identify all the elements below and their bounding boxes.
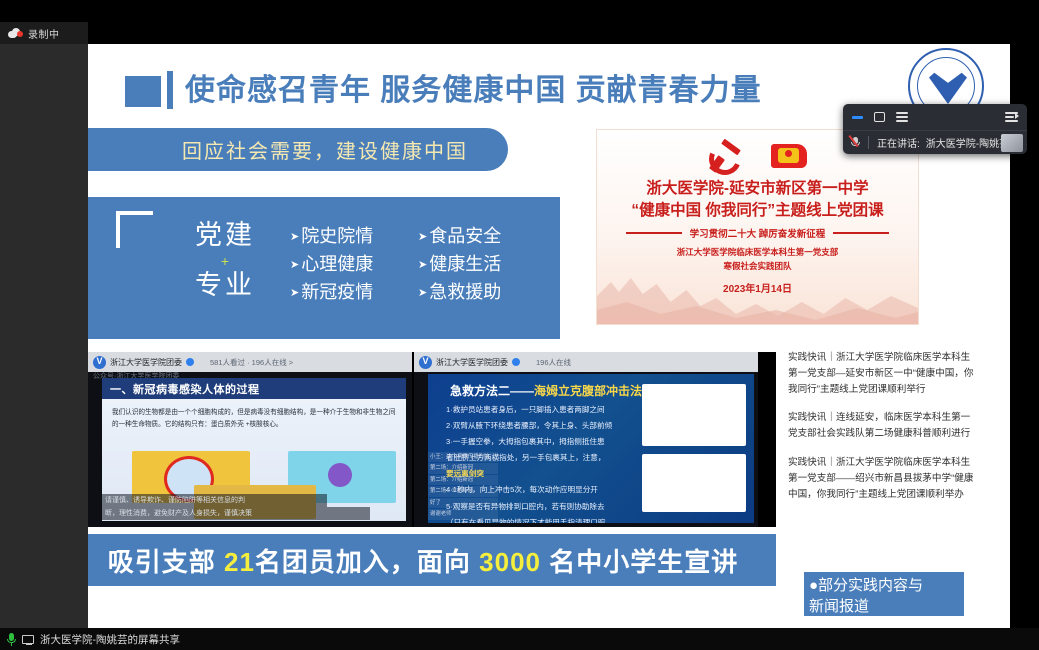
summary-banner-text: 吸引支部 21名团员加入，面向 3000 名中小学生宣讲 xyxy=(108,542,738,579)
chat-messages: 小王：这个病毒传播的快 第二场：介绍新冠 第二场：介绍新冠 第二场：介绍新冠 好… xyxy=(428,452,498,521)
list-item: 小王：这个病毒传播的快 xyxy=(428,452,498,463)
banner-segment-2: 名团员加入，面向 xyxy=(255,547,479,577)
poster-title: 浙大医学院-延安市新区第一中学 “健康中国 你我同行”主题线上党团课 xyxy=(597,178,918,222)
left-overlay-band-1: 请谨慎、诱导欺诈、谨防陷阱等相关信息的判 xyxy=(102,494,327,507)
screenshots-strip: 浙江大学医学院团委 581人看过 · 196人在线 > 公众号·浙江大学医学院团… xyxy=(88,352,776,527)
active-speaker-name: 浙大医学院-陶姚芸 xyxy=(926,135,1009,150)
screen-share-icon xyxy=(22,635,34,644)
youth-league-flag-icon xyxy=(769,141,809,173)
topics-bullet-column-1: 院史院情 心理健康 新冠疫情 xyxy=(290,223,373,307)
viewer-count: 196人在线 xyxy=(536,357,571,368)
summary-banner: 吸引支部 21名团员加入，面向 3000 名中小学生宣讲 xyxy=(88,534,776,586)
wechat-header-right: 浙江大学医学院团委 196人在线 xyxy=(414,352,758,372)
event-poster: 浙大医学院-延安市新区第一中学 “健康中国 你我同行”主题线上党团课 学习贯彻二… xyxy=(596,129,919,325)
banner-segment-3: 名中小学生宣讲 xyxy=(541,547,738,577)
heimlich-illustration-top xyxy=(642,384,746,446)
divider-left xyxy=(626,232,682,233)
news-caption-box: ●部分实践内容与 新闻报道 xyxy=(804,572,964,616)
topics-plus-label: + xyxy=(170,254,280,268)
poster-title-line-1: 浙大医学院-延安市新区第一中学 xyxy=(646,180,868,197)
news-item: 实践快讯｜浙江大学医学院临床医学本科生第一党支部—延安市新区一中“健康中国，你我… xyxy=(788,350,978,398)
list-item: 第二场：介绍新冠 xyxy=(428,463,498,474)
poster-subtitle: 学习贯彻二十大 踔厉奋发新征程 xyxy=(597,226,918,240)
minimize-icon[interactable] xyxy=(852,116,863,119)
floating-panel-toolbar xyxy=(843,104,1027,130)
window-top-letterbox xyxy=(88,0,1039,44)
left-slide-body: 我们认识的生物都是由一个个细胞构成的，但是病毒没有细胞结构，是一种介于生物和非生… xyxy=(102,399,406,439)
subtitle-pill-text: 回应社会需要，建设健康中国 xyxy=(182,135,468,164)
poster-subtitle-text: 学习贯彻二十大 踔厉奋发新征程 xyxy=(690,226,826,240)
muted-microphone-icon[interactable] xyxy=(851,136,861,149)
list-item: 食品安全 xyxy=(418,223,501,251)
wechat-account-avatar xyxy=(419,356,432,369)
list-item: 新冠疫情 xyxy=(290,279,373,307)
divider-right xyxy=(833,232,889,233)
maximize-icon[interactable] xyxy=(874,112,885,122)
banner-number-members: 21 xyxy=(224,547,255,577)
window-left-letterbox xyxy=(0,44,88,628)
poster-org-line-1: 浙江大学医学院临床医学本科生第一党支部 xyxy=(677,247,839,257)
news-item: 实践快讯｜连线延安，临床医学本科生第一党支部社会实践队第二场健康科普顺利进行 xyxy=(788,410,978,442)
screen-share-status-bar: 浙大医学院-陶姚芸的屏幕共享 xyxy=(0,628,180,650)
left-overlay-text-2: 断，理性消费，避免财产及人身损失，谨慎决策 xyxy=(105,508,252,518)
title-bar-decoration xyxy=(167,71,173,109)
right-slide-title-highlight: 海姆立克腹部冲击法 xyxy=(534,384,642,398)
speaking-label: 正在讲话: xyxy=(877,135,920,150)
wechat-header-left: 浙江大学医学院团委 581人看过 · 196人在线 > xyxy=(88,352,412,372)
list-item: 健康生活 xyxy=(418,251,501,279)
screenshot-right: 浙江大学医学院团委 196人在线 急救方法二——海姆立克腹部冲击法 1·救护员站… xyxy=(414,352,758,527)
news-column: 实践快讯｜浙江大学医学院临床医学本科生第一党支部—延安市新区一中“健康中国，你我… xyxy=(788,350,978,515)
divider xyxy=(868,136,869,149)
list-item: 院史院情 xyxy=(290,223,373,251)
screenshot-left: 浙江大学医学院团委 581人看过 · 196人在线 > 公众号·浙江大学医学院团… xyxy=(88,352,412,527)
hand-illustration-bottom xyxy=(642,454,746,512)
topics-party-label: 党建 xyxy=(170,219,280,253)
page-title: 使命感召青年 服务健康中国 贡献青春力量 xyxy=(185,65,762,109)
floating-participant-panel[interactable]: 正在讲话: 浙大医学院-陶姚芸 xyxy=(843,104,1027,154)
participants-list-icon[interactable] xyxy=(896,112,908,122)
banner-segment-1: 吸引支部 xyxy=(108,547,224,577)
verified-badge-icon xyxy=(512,358,520,366)
poster-title-line-2: “健康中国 你我同行”主题线上党团课 xyxy=(631,202,883,219)
list-item: 第二场：介绍新冠 xyxy=(428,475,498,486)
banner-number-students: 3000 xyxy=(479,547,541,577)
left-overlay-band-2: 断，理性消费，避免财产及人身损失，谨慎决策 xyxy=(102,507,370,520)
wechat-account-name: 浙江大学医学院团委 xyxy=(110,357,182,368)
topics-major-label: 专业 xyxy=(170,269,280,303)
list-item: 急救援助 xyxy=(418,279,501,307)
topics-box: 党建 + 专业 院史院情 心理健康 新冠疫情 食品安全 健康生活 急救援助 xyxy=(88,197,560,339)
hammer-sickle-icon xyxy=(707,140,743,174)
poster-landscape-illustration xyxy=(597,262,918,324)
logo-bird-shape xyxy=(929,70,967,104)
right-inner-slide: 急救方法二——海姆立克腹部冲击法 1·救护员站患者身后，一只脚插入患者两脚之间 … xyxy=(428,374,754,523)
active-speaker-row: 正在讲话: 浙大医学院-陶姚芸 xyxy=(843,130,1027,154)
speaker-video-thumbnail[interactable] xyxy=(1001,134,1023,152)
right-slide-title-prefix: 急救方法二—— xyxy=(450,384,534,398)
topics-left-label: 党建 + 专业 xyxy=(170,219,280,303)
wechat-account-avatar xyxy=(93,356,106,369)
list-item: 谢谢老师 xyxy=(428,509,498,520)
recording-label: 录制中 xyxy=(28,26,60,41)
list-item: 第二场：介绍新冠 xyxy=(428,486,498,497)
corner-bracket-decoration xyxy=(116,211,153,248)
screen-share-status-text: 浙大医学院-陶姚芸的屏幕共享 xyxy=(40,632,180,647)
expand-panel-icon[interactable] xyxy=(1005,112,1018,122)
verified-badge-icon xyxy=(186,358,194,366)
list-item: 心理健康 xyxy=(290,251,373,279)
left-overlay-text-1: 请谨慎、诱导欺诈、谨防陷阱等相关信息的判 xyxy=(105,495,245,505)
wechat-account-name: 浙江大学医学院团委 xyxy=(436,357,508,368)
slide-title-row: 使命感召青年 服务健康中国 贡献青春力量 xyxy=(88,56,1010,108)
topics-bullet-column-2: 食品安全 健康生活 急救援助 xyxy=(418,223,501,307)
zoom-screen-share-window: 录制中 浙大医学院-陶姚芸的屏幕共享 正在讲话: 浙大医学院-陶姚芸 使命感召青… xyxy=(0,0,1039,650)
recording-cloud-icon xyxy=(8,28,23,38)
recording-indicator[interactable]: 录制中 xyxy=(0,22,88,44)
subtitle-pill: 回应社会需要，建设健康中国 xyxy=(88,128,508,171)
viewer-count: 581人看过 · 196人在线 > xyxy=(210,357,293,368)
left-inner-slide: 一、新冠病毒感染人体的过程 我们认识的生物都是由一个个细胞构成的，但是病毒没有细… xyxy=(102,378,406,521)
right-slide-title: 急救方法二——海姆立克腹部冲击法 xyxy=(450,382,642,399)
left-slide-title: 一、新冠病毒感染人体的过程 xyxy=(102,378,406,399)
news-item: 实践快讯｜浙江大学医学院临床医学本科生第一党支部——绍兴市新昌县拔茅中学“健康中… xyxy=(788,455,978,503)
microphone-icon[interactable] xyxy=(7,633,16,646)
list-item: 好了 xyxy=(428,498,498,509)
title-block-decoration xyxy=(125,76,161,107)
